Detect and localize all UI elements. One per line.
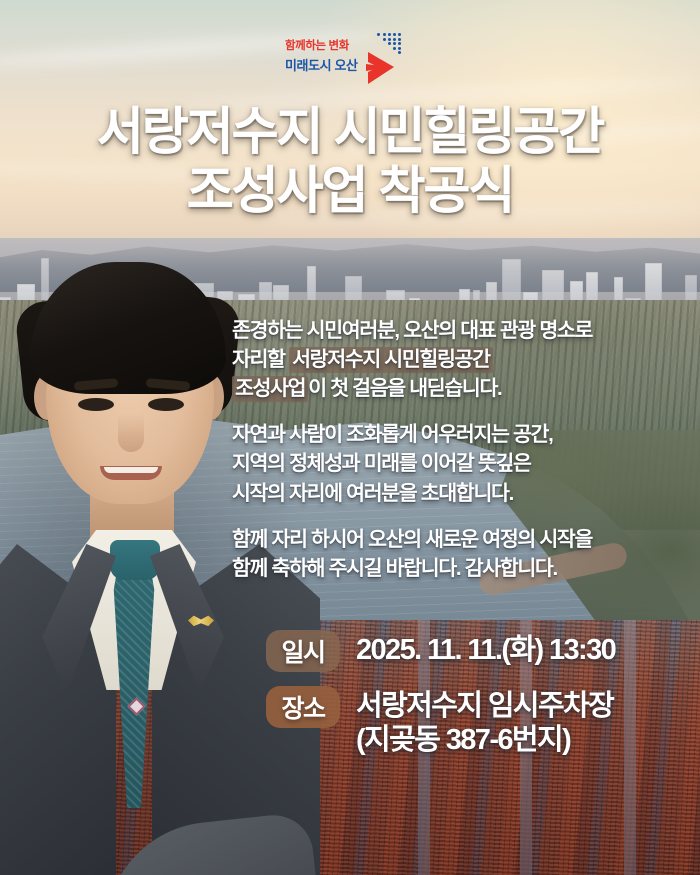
paragraph-1-line-3-suffix: 이 첫 걸음을 내딛습니다.	[308, 377, 501, 400]
paragraph-3-line-2: 함께 축하해 주시길 바랍니다. 감사합니다.	[232, 554, 684, 583]
event-place-row: 장소 서랑저수지 임시주차장 (지곶동 387-6번지)	[266, 686, 696, 757]
date-value-text: 2025. 11. 11.(화) 13:30	[356, 633, 615, 667]
mouth	[100, 466, 162, 480]
paragraph-1: 존경하는 시민여러분, 오산의 대표 관광 명소로 자리할 서랑저수지 시민힐링…	[232, 316, 684, 403]
highlight-project-name-part2: 조성사업	[232, 376, 308, 402]
paragraph-2-line-3: 시작의 자리에 여러분을 초대합니다.	[232, 479, 684, 508]
invitation-body: 존경하는 시민여러분, 오산의 대표 관광 명소로 자리할 서랑저수지 시민힐링…	[232, 316, 684, 583]
eye-right	[148, 398, 184, 411]
date-value: 2025. 11. 11.(화) 13:30	[356, 630, 615, 667]
highlight-project-name-part1: 서랑저수지 시민힐링공간	[289, 347, 493, 373]
logo-arrow-icon	[364, 50, 404, 88]
eye-left	[78, 398, 114, 411]
logo-tagline-line1: 함께하는 변화	[285, 37, 349, 53]
paragraph-2-line-1: 자연과 사람이 조화롭게 어우러지는 공간,	[232, 420, 684, 449]
paragraph-3-line-1: 함께 자리 하시어 오산의 새로운 여정의 시작을	[232, 525, 684, 554]
place-value-line-2: (지곶동 387-6번지)	[356, 723, 613, 757]
osan-city-logo: 함께하는 변화 미래도시 오산	[285, 33, 415, 87]
poster-root: 함께하는 변화 미래도시 오산 서랑저수지 시민힐링공간 조성사업 착공식 존경…	[0, 0, 700, 875]
paragraph-3: 함께 자리 하시어 오산의 새로운 여정의 시작을 함께 축하해 주시길 바랍니…	[232, 525, 684, 583]
event-date-row: 일시 2025. 11. 11.(화) 13:30	[266, 630, 696, 672]
paragraph-2-line-2: 지역의 정체성과 미래를 이어갈 뜻깊은	[232, 449, 684, 478]
paragraph-2: 자연과 사람이 조화롭게 어우러지는 공간, 지역의 정체성과 미래를 이어갈 …	[232, 420, 684, 507]
event-details: 일시 2025. 11. 11.(화) 13:30 장소 서랑저수지 임시주차장…	[266, 630, 696, 757]
paragraph-1-line-2: 자리할 서랑저수지 시민힐링공간	[232, 345, 684, 374]
paragraph-1-line-2-prefix: 자리할	[232, 348, 289, 371]
place-badge: 장소	[266, 686, 340, 728]
paragraph-1-line-3: 조성사업이 첫 걸음을 내딛습니다.	[232, 374, 684, 403]
place-value: 서랑저수지 임시주차장 (지곶동 387-6번지)	[356, 686, 613, 757]
title-line-2: 조성사업 착공식	[0, 163, 700, 218]
place-value-line-1: 서랑저수지 임시주차장	[356, 689, 613, 723]
nose	[118, 414, 144, 452]
title-line-1: 서랑저수지 시민힐링공간	[0, 104, 700, 159]
logo-tagline-line2: 미래도시 오산	[285, 55, 358, 74]
date-badge: 일시	[266, 630, 340, 672]
paragraph-1-line-1: 존경하는 시민여러분, 오산의 대표 관광 명소로	[232, 316, 684, 345]
page-title: 서랑저수지 시민힐링공간 조성사업 착공식	[0, 104, 700, 218]
